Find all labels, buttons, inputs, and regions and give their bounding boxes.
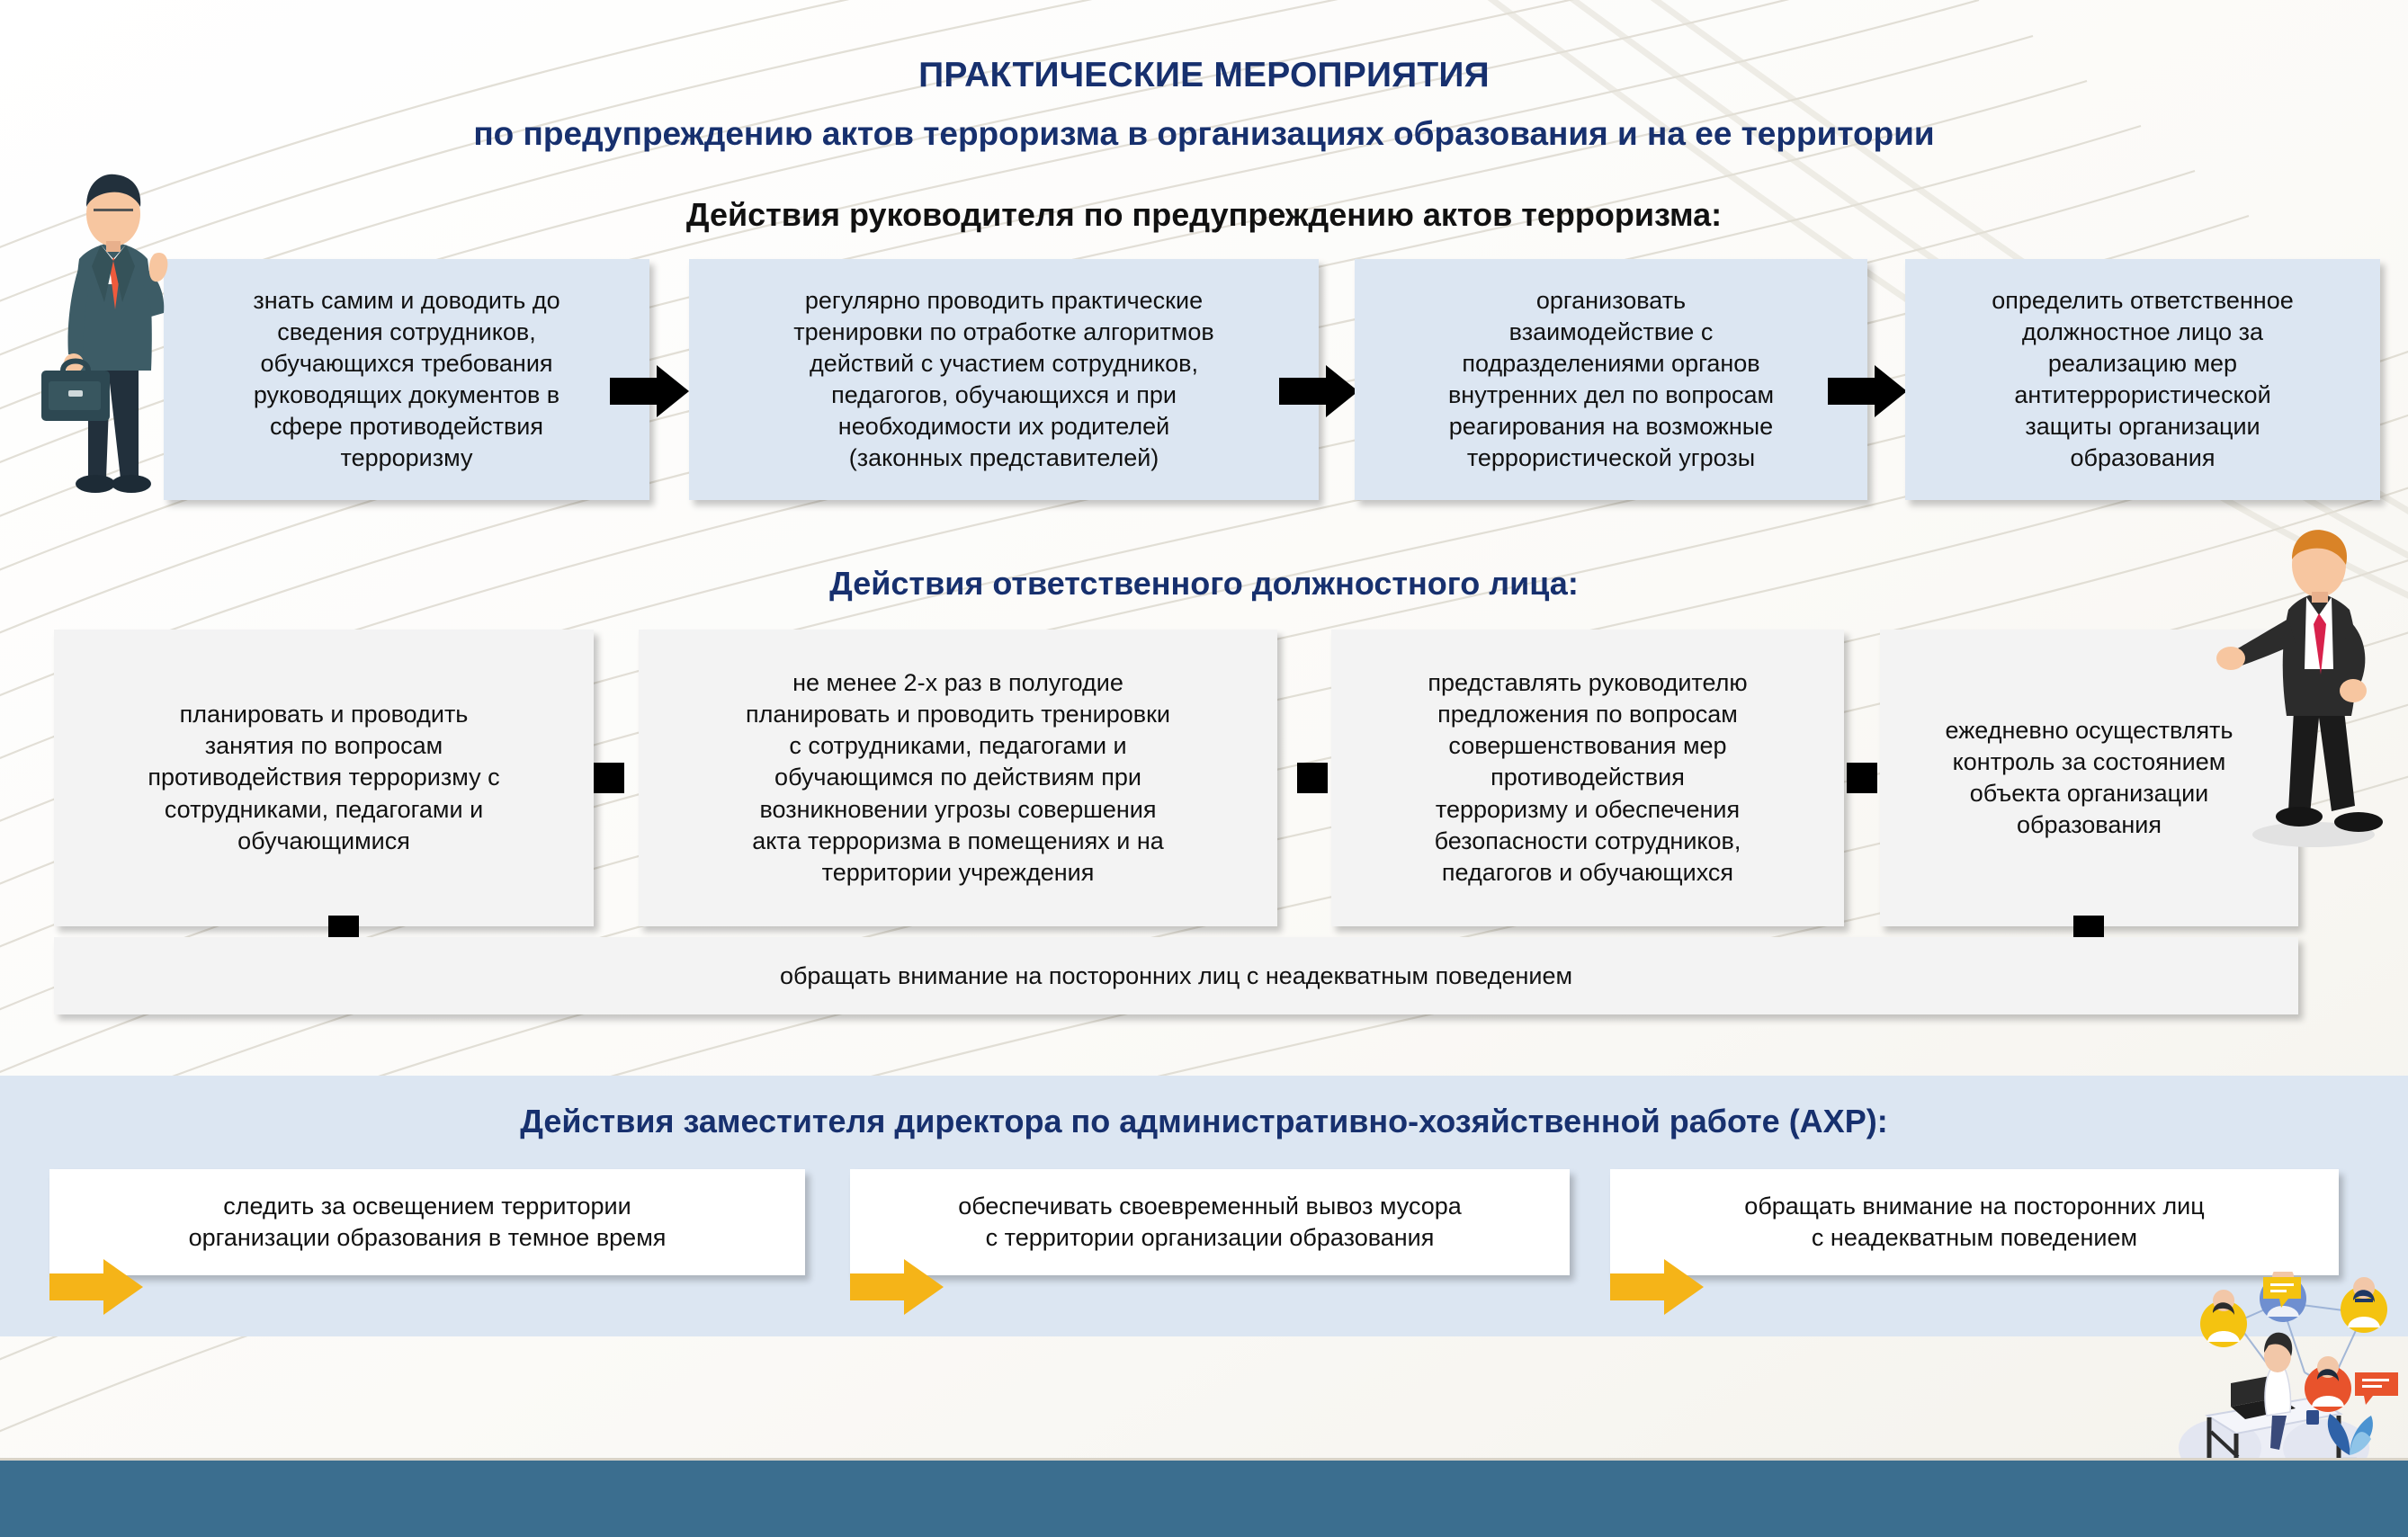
director-card-3-text: организовать взаимодействие с подразделе… bbox=[1448, 285, 1774, 475]
director-card-3: организовать взаимодействие с подразделе… bbox=[1355, 259, 1867, 500]
axp-card-3-text: обращать внимание на посторонних лиц с н… bbox=[1744, 1191, 2204, 1254]
right-arrow-icon bbox=[1828, 365, 1907, 417]
yellow-arrow-icon bbox=[49, 1259, 143, 1315]
director-card-2-text: регулярно проводить практические трениро… bbox=[793, 285, 1213, 475]
director-card-1: знать самим и доводить до сведения сотру… bbox=[164, 259, 649, 500]
right-arrow-icon bbox=[610, 365, 689, 417]
businessman-with-briefcase-illustration bbox=[23, 158, 203, 509]
square-connector-icon bbox=[1847, 763, 1877, 793]
square-connector-icon bbox=[1297, 763, 1328, 793]
axp-card-3: обращать внимание на посторонних лиц с н… bbox=[1610, 1169, 2339, 1275]
axp-card-1: следить за освещением территории организ… bbox=[49, 1169, 805, 1275]
axp-card-1-text: следить за освещением территории организ… bbox=[189, 1191, 667, 1254]
officer-card-4-text: ежедневно осуществлять контроль за состо… bbox=[1946, 715, 2233, 841]
officer-card-3-text: представлять руководителю предложения по… bbox=[1428, 667, 1747, 889]
officer-note-bar-text: обращать внимание на посторонних лиц с н… bbox=[780, 962, 1572, 990]
yellow-arrow-icon bbox=[1610, 1259, 1704, 1315]
yellow-arrow-icon bbox=[850, 1259, 944, 1315]
officer-card-2: не менее 2-х раз в полугодие планировать… bbox=[639, 630, 1277, 926]
officer-card-1-text: планировать и проводить занятия по вопро… bbox=[148, 699, 499, 856]
poster-title-line1: ПРАКТИЧЕСКИЕ МЕРОПРИЯТИЯ bbox=[0, 56, 2408, 95]
section-heading-officer: Действия ответственного должностного лиц… bbox=[0, 565, 2408, 603]
director-card-1-text: знать самим и доводить до сведения сотру… bbox=[253, 285, 559, 475]
officer-note-bar: обращать внимание на посторонних лиц с н… bbox=[54, 937, 2298, 1014]
standing-man-pointing-illustration bbox=[2206, 525, 2398, 860]
officer-card-2-text: не менее 2-х раз в полугодие планировать… bbox=[746, 667, 1170, 889]
section-heading-axp: Действия заместителя директора по админи… bbox=[0, 1103, 2408, 1140]
square-connector-icon bbox=[594, 763, 624, 793]
axp-card-2-text: обеспечивать своевременный вывоз мусора … bbox=[958, 1191, 1462, 1254]
poster-title-line2: по предупреждению актов терроризма в орг… bbox=[0, 115, 2408, 153]
poster-canvas: ПРАКТИЧЕСКИЕ МЕРОПРИЯТИЯ по предупрежден… bbox=[0, 0, 2408, 1537]
footer-bar bbox=[0, 1458, 2408, 1537]
director-card-2: регулярно проводить практические трениро… bbox=[689, 259, 1319, 500]
right-arrow-icon bbox=[1279, 365, 1358, 417]
section-heading-director: Действия руководителя по предупреждению … bbox=[0, 196, 2408, 234]
director-card-4-text: определить ответственное должностное лиц… bbox=[1992, 285, 2294, 475]
officer-card-3: представлять руководителю предложения по… bbox=[1331, 630, 1844, 926]
axp-card-2: обеспечивать своевременный вывоз мусора … bbox=[850, 1169, 1570, 1275]
officer-card-1: планировать и проводить занятия по вопро… bbox=[54, 630, 594, 926]
director-card-4: определить ответственное должностное лиц… bbox=[1905, 259, 2380, 500]
